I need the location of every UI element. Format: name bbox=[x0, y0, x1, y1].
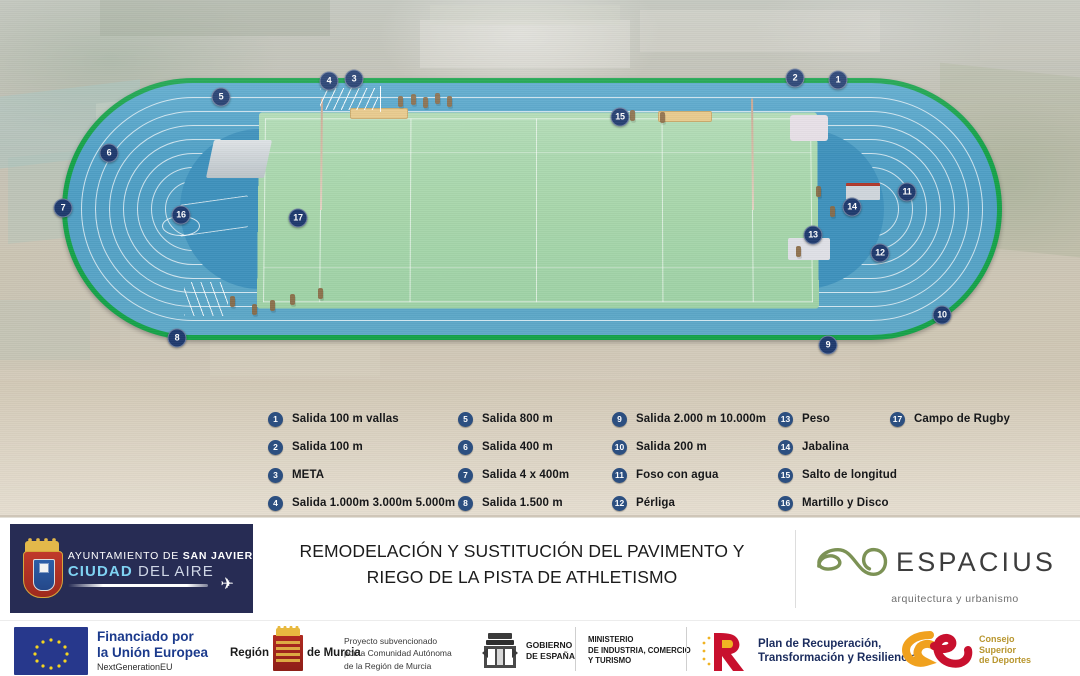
legend-label-16: Martillo y Disco bbox=[802, 497, 889, 509]
legend-item-10[interactable]: 10Salida 200 m bbox=[612, 433, 766, 461]
legend-item-12[interactable]: 12Pérliga bbox=[612, 489, 766, 517]
legend-item-14[interactable]: 14Jabalina bbox=[778, 433, 897, 461]
pitch-line bbox=[662, 118, 664, 302]
legend-badge-17: 17 bbox=[890, 412, 905, 427]
athlete-figure bbox=[411, 94, 416, 105]
legend-label-14: Jabalina bbox=[802, 441, 849, 453]
eu-stars bbox=[14, 627, 88, 675]
map-marker-6[interactable]: 6 bbox=[100, 144, 119, 163]
legend-item-5[interactable]: 5Salida 800 m bbox=[458, 405, 569, 433]
legend-label-10: Salida 200 m bbox=[636, 441, 707, 453]
legend-badge-13: 13 bbox=[778, 412, 793, 427]
pitch-line bbox=[263, 267, 812, 268]
municipal-name: SAN JAVIER bbox=[183, 550, 253, 562]
athlete-figure bbox=[816, 186, 821, 197]
csd-mark-icon bbox=[900, 629, 974, 671]
gobierno-espana-logo: GOBIERNO DE ESPAÑA bbox=[480, 631, 575, 671]
eu-flag-icon bbox=[14, 627, 88, 675]
legend-label-9: Salida 2.000 m 10.000m bbox=[636, 413, 766, 425]
legend-badge-7: 7 bbox=[458, 468, 473, 483]
legend-item-7[interactable]: 7Salida 4 x 400m bbox=[458, 461, 569, 489]
legend-badge-8: 8 bbox=[458, 496, 473, 511]
athlete-figure bbox=[398, 96, 403, 107]
legend-label-6: Salida 400 m bbox=[482, 441, 553, 453]
athlete-figure bbox=[796, 246, 801, 257]
map-marker-9[interactable]: 9 bbox=[819, 336, 838, 355]
gobierno-line-1: GOBIERNO bbox=[526, 640, 575, 651]
map-marker-8[interactable]: 8 bbox=[168, 329, 187, 348]
csd-text: Consejo Superior de Deportes bbox=[979, 634, 1031, 666]
murcia-prefix: Región bbox=[230, 647, 269, 659]
espacius-logo-row: ESPACIUS bbox=[812, 536, 1068, 588]
athlete-figure bbox=[830, 206, 835, 217]
prtr-mark-icon bbox=[700, 629, 752, 673]
murcia-bars bbox=[276, 640, 300, 662]
legend-badge-1: 1 bbox=[268, 412, 283, 427]
municipal-logo-text: AYUNTAMIENTO DE SAN JAVIER CIUDAD DEL AI… bbox=[68, 550, 253, 586]
hammer-discus-cage bbox=[206, 140, 272, 178]
legend-label-8: Salida 1.500 m bbox=[482, 497, 563, 509]
ministerio-line-3: Y TURISMO bbox=[588, 656, 691, 667]
legend-item-16[interactable]: 16Martillo y Disco bbox=[778, 489, 897, 517]
pitch-line bbox=[536, 118, 537, 302]
finish-line bbox=[380, 86, 381, 112]
legend-label-15: Salto de longitud bbox=[802, 469, 897, 481]
pitch-line bbox=[410, 118, 412, 302]
start-markings bbox=[184, 282, 228, 316]
rugby-goal-post bbox=[751, 99, 754, 210]
athlete-figure bbox=[630, 110, 635, 121]
eu-line-2: la Unión Europea bbox=[97, 645, 208, 661]
prtr-text: Plan de Recuperación, Transformación y R… bbox=[758, 637, 917, 666]
legend-label-4: Salida 1.000m 3.000m 5.000m bbox=[292, 497, 455, 509]
legend-badge-4: 4 bbox=[268, 496, 283, 511]
legend-label-7: Salida 4 x 400m bbox=[482, 469, 569, 481]
map-marker-10[interactable]: 10 bbox=[933, 306, 952, 325]
map-marker-4[interactable]: 4 bbox=[320, 72, 339, 91]
prtr-line-2: Transformación y Resiliencia bbox=[758, 651, 917, 665]
legend: 1Salida 100 m vallas2Salida 100 m3META4S… bbox=[0, 405, 1080, 517]
gobierno-label: GOBIERNO DE ESPAÑA bbox=[526, 640, 575, 662]
legend-label-1: Salida 100 m vallas bbox=[292, 413, 399, 425]
legend-label-13: Peso bbox=[802, 413, 830, 425]
legend-badge-6: 6 bbox=[458, 440, 473, 455]
prtr-logo: Plan de Recuperación, Transformación y R… bbox=[700, 629, 917, 673]
legend-badge-16: 16 bbox=[778, 496, 793, 511]
shield-inner bbox=[33, 559, 55, 591]
map-marker-17[interactable]: 17 bbox=[289, 209, 308, 228]
map-marker-16[interactable]: 16 bbox=[172, 206, 191, 225]
athlete-figure bbox=[660, 112, 665, 123]
map-marker-12[interactable]: 12 bbox=[871, 244, 890, 263]
subvention-line-2: por la Comunidad Autónoma bbox=[344, 647, 452, 659]
eu-line-1: Financiado por bbox=[97, 629, 208, 645]
legend-label-12: Pérliga bbox=[636, 497, 675, 509]
escudo-espana-icon bbox=[480, 631, 520, 671]
poster-title-line-2: RIEGO DE LA PISTA DE ATHLETISMO bbox=[262, 564, 782, 590]
legend-label-3: META bbox=[292, 469, 324, 481]
espacius-logo: ESPACIUS arquitectura y urbanismo bbox=[812, 536, 1068, 605]
legend-label-5: Salida 800 m bbox=[482, 413, 553, 425]
eu-funding-text: Financiado por la Unión Europea NextGene… bbox=[97, 629, 208, 672]
legend-badge-11: 11 bbox=[612, 468, 627, 483]
photo-parcel bbox=[100, 0, 330, 36]
pitch-line bbox=[810, 118, 813, 302]
footer-divider bbox=[575, 627, 576, 671]
legend-badge-15: 15 bbox=[778, 468, 793, 483]
escudo-san-javier-icon bbox=[23, 541, 56, 596]
legend-label-2: Salida 100 m bbox=[292, 441, 363, 453]
legend-badge-3: 3 bbox=[268, 468, 283, 483]
legend-item-17[interactable]: 17Campo de Rugby bbox=[890, 405, 1010, 433]
pitch-line bbox=[265, 118, 811, 119]
photo-parcel bbox=[430, 5, 620, 25]
title-band: AYUNTAMIENTO DE SAN JAVIER CIUDAD DEL AI… bbox=[0, 517, 1080, 621]
legend-column-5: 17Campo de Rugby bbox=[890, 405, 1010, 433]
gobierno-line-2: DE ESPAÑA bbox=[526, 651, 575, 662]
map-marker-13[interactable]: 13 bbox=[804, 226, 823, 245]
legend-label-11: Foso con agua bbox=[636, 469, 718, 481]
map-marker-1[interactable]: 1 bbox=[829, 71, 848, 90]
pitch-line bbox=[265, 152, 812, 153]
legend-item-15[interactable]: 15Salto de longitud bbox=[778, 461, 897, 489]
legend-column-4: 13Peso14Jabalina15Salto de longitud16Mar… bbox=[778, 405, 897, 517]
subvention-line-1: Proyecto subvencionado bbox=[344, 635, 452, 647]
legend-badge-10: 10 bbox=[612, 440, 627, 455]
athlete-figure bbox=[435, 93, 440, 104]
csd-line-2: Superior bbox=[979, 645, 1031, 656]
eu-line-3: NextGenerationEU bbox=[97, 662, 208, 672]
legend-column-3: 9Salida 2.000 m 10.000m10Salida 200 m11F… bbox=[612, 405, 766, 517]
legend-item-13[interactable]: 13Peso bbox=[778, 405, 897, 433]
prtr-line-1: Plan de Recuperación, bbox=[758, 637, 917, 651]
legend-item-1[interactable]: 1Salida 100 m vallas bbox=[268, 405, 455, 433]
athlete-figure bbox=[447, 96, 452, 107]
band-divider bbox=[795, 530, 796, 608]
long-jump-runway-right bbox=[658, 111, 712, 122]
map-marker-7[interactable]: 7 bbox=[54, 199, 73, 218]
espacius-swirl-mark-icon bbox=[812, 536, 894, 588]
csd-line-3: de Deportes bbox=[979, 655, 1031, 666]
crown-icon bbox=[276, 628, 300, 636]
pitch-line bbox=[263, 301, 813, 302]
photo-parcel bbox=[420, 20, 630, 68]
municipal-logo: AYUNTAMIENTO DE SAN JAVIER CIUDAD DEL AI… bbox=[10, 524, 253, 613]
ministerio-line-2: DE INDUSTRIA, COMERCIO bbox=[588, 646, 691, 657]
legend-badge-12: 12 bbox=[612, 496, 627, 511]
castle-icon bbox=[40, 564, 48, 572]
murcia-crest-icon bbox=[273, 635, 303, 671]
legend-item-9[interactable]: 9Salida 2.000 m 10.000m bbox=[612, 405, 766, 433]
municipal-tagline-strong: CIUDAD bbox=[68, 563, 133, 580]
rugby-goal-post bbox=[320, 99, 323, 210]
start-markings bbox=[320, 88, 378, 110]
legend-item-8[interactable]: 8Salida 1.500 m bbox=[458, 489, 569, 517]
legend-column-2: 5Salida 800 m6Salida 400 m7Salida 4 x 40… bbox=[458, 405, 569, 517]
legend-item-11[interactable]: 11Foso con agua bbox=[612, 461, 766, 489]
espacius-tagline: arquitectura y urbanismo bbox=[842, 593, 1068, 605]
legend-column-1: 1Salida 100 m vallas2Salida 100 m3META4S… bbox=[268, 405, 455, 517]
athlete-figure bbox=[423, 97, 428, 108]
funding-footer: Financiado por la Unión Europea NextGene… bbox=[0, 620, 1080, 676]
athlete-figure bbox=[290, 294, 295, 305]
espacius-name: ESPACIUS bbox=[896, 547, 1056, 578]
footer-divider bbox=[686, 627, 687, 671]
legend-label-17: Campo de Rugby bbox=[914, 413, 1010, 425]
map-marker-14[interactable]: 14 bbox=[843, 198, 862, 217]
map-marker-2[interactable]: 2 bbox=[786, 69, 805, 88]
poster-title: REMODELACIÓN Y SUSTITUCIÓN DEL PAVIMENTO… bbox=[262, 538, 782, 591]
athlete-figure bbox=[252, 304, 257, 315]
plane-icon: ✈ bbox=[220, 577, 233, 593]
region-murcia-logo: Región de Murcia bbox=[230, 635, 361, 671]
legend-item-4[interactable]: 4Salida 1.000m 3.000m 5.000m bbox=[268, 489, 455, 517]
eu-funding-logo: Financiado por la Unión Europea NextGene… bbox=[14, 627, 208, 675]
subvention-line-3: de la Región de Murcia bbox=[344, 660, 452, 672]
map-marker-5[interactable]: 5 bbox=[212, 88, 231, 107]
csd-line-1: Consejo bbox=[979, 634, 1031, 645]
rugby-pitch bbox=[257, 112, 819, 308]
municipal-prefix: AYUNTAMIENTO DE bbox=[68, 550, 183, 562]
shield-icon bbox=[23, 551, 63, 598]
ministerio-line-1: MINISTERIO bbox=[588, 635, 691, 646]
poster-root: 1234567891011121314151617 1Salida 100 m … bbox=[0, 0, 1080, 675]
athlete-figure bbox=[318, 288, 323, 299]
municipal-tagline-rest: DEL AIRE bbox=[133, 563, 214, 580]
map-marker-15[interactable]: 15 bbox=[611, 108, 630, 127]
map-marker-11[interactable]: 11 bbox=[898, 183, 917, 202]
legend-badge-2: 2 bbox=[268, 440, 283, 455]
legend-item-3[interactable]: 3META bbox=[268, 461, 455, 489]
municipal-rule: ✈ bbox=[68, 584, 208, 587]
legend-badge-5: 5 bbox=[458, 412, 473, 427]
athlete-figure bbox=[230, 296, 235, 307]
municipal-line-1: AYUNTAMIENTO DE SAN JAVIER bbox=[68, 550, 253, 562]
legend-badge-9: 9 bbox=[612, 412, 627, 427]
athlete-figure bbox=[270, 300, 275, 311]
legend-badge-14: 14 bbox=[778, 440, 793, 455]
map-marker-3[interactable]: 3 bbox=[345, 70, 364, 89]
high-jump-mat bbox=[790, 115, 828, 141]
photo-parcel bbox=[640, 10, 880, 52]
legend-item-6[interactable]: 6Salida 400 m bbox=[458, 433, 569, 461]
subvention-text: Proyecto subvencionado por la Comunidad … bbox=[344, 635, 452, 672]
csd-logo: Consejo Superior de Deportes bbox=[900, 629, 1031, 671]
poster-title-line-1: REMODELACIÓN Y SUSTITUCIÓN DEL PAVIMENTO… bbox=[262, 538, 782, 564]
legend-item-2[interactable]: 2Salida 100 m bbox=[268, 433, 455, 461]
ministerio-label: MINISTERIO DE INDUSTRIA, COMERCIO Y TURI… bbox=[588, 635, 691, 667]
photo-parcel bbox=[980, 0, 1080, 60]
